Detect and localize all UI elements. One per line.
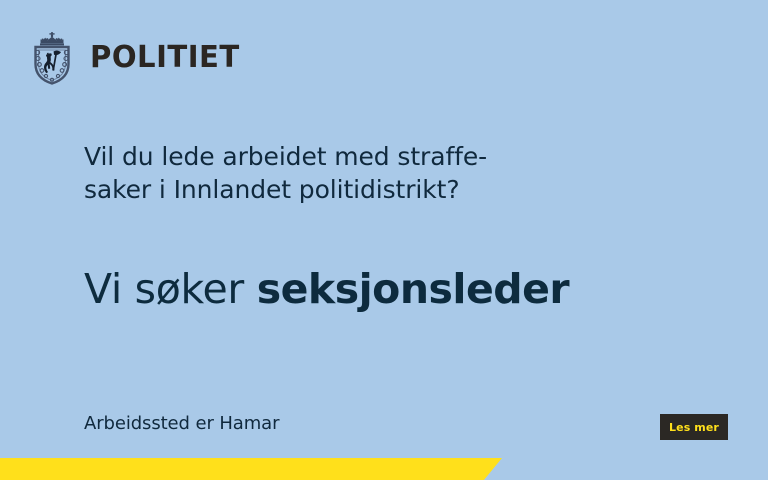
headline-role: seksjonsleder	[257, 265, 569, 313]
lead-question-line-1: Vil du lede arbeidet med straffe-	[84, 140, 644, 173]
lead-question-line-2: saker i Innlandet politidistrikt?	[84, 173, 644, 206]
politiet-wordmark: POLITIET	[90, 43, 240, 73]
norwegian-coat-of-arms-icon	[28, 31, 76, 85]
brand-logo-lockup[interactable]: POLITIET	[28, 31, 244, 85]
lead-question: Vil du lede arbeidet med straffe- saker …	[84, 140, 644, 206]
read-more-button[interactable]: Les mer	[660, 414, 728, 440]
headline: Vi søker seksjonsleder	[84, 266, 569, 313]
headline-prefix: Vi søker	[84, 265, 257, 313]
workplace-location: Arbeidssted er Hamar	[84, 413, 279, 434]
recruitment-banner: POLITIET Vil du lede arbeidet med straff…	[0, 0, 768, 480]
yellow-accent-band	[0, 458, 502, 480]
read-more-label: Les mer	[669, 422, 719, 433]
